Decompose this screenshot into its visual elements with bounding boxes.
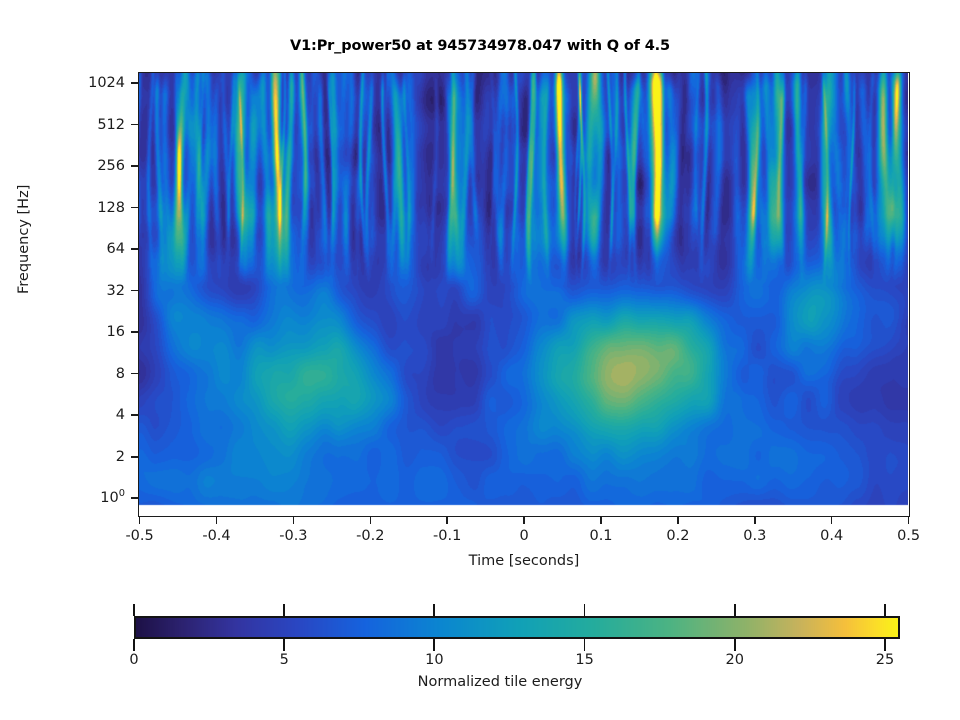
y-tick-mark [131,165,138,167]
spectrogram-image [139,73,908,511]
y-tick-label: 16 [0,324,125,340]
x-tick-mark [139,517,141,524]
colorbar-tick-mark [133,604,135,616]
y-tick-label: 100 [0,490,125,506]
y-tick-label: 4 [0,407,125,423]
page-title: V1:Pr_power50 at 945734978.047 with Q of… [0,38,960,54]
y-tick-mark [131,497,138,499]
colorbar-tick-mark [133,639,135,651]
y-axis-label: Frequency [Hz] [16,185,32,294]
x-tick-label: -0.5 [125,528,153,544]
x-tick-label: -0.4 [202,528,230,544]
x-tick-mark [216,517,218,524]
y-tick-label: 1024 [0,75,125,91]
colorbar-tick-mark [884,639,886,651]
x-axis-label: Time [seconds] [0,553,960,569]
colorbar-tick-label: 10 [425,652,443,668]
x-tick-mark [677,517,679,524]
spectrogram-figure: V1:Pr_power50 at 945734978.047 with Q of… [0,0,960,720]
y-tick-label: 2 [0,449,125,465]
colorbar-label: Normalized tile energy [0,674,960,690]
colorbar-tick-mark [734,639,736,651]
x-tick-mark [523,517,525,524]
y-tick-label: 512 [0,117,125,133]
colorbar-tick-mark [283,639,285,651]
colorbar-tick-mark [734,604,736,616]
spectrogram-axes[interactable] [138,72,910,517]
x-tick-mark [446,517,448,524]
x-tick-label: 0 [519,528,528,544]
y-tick-mark [131,331,138,333]
y-tick-mark [131,207,138,209]
y-tick-mark [131,290,138,292]
y-tick-mark [131,456,138,458]
colorbar-tick-label: 0 [129,652,138,668]
x-tick-mark [754,517,756,524]
colorbar-tick-label: 20 [726,652,744,668]
y-tick-mark [131,82,138,84]
colorbar-tick-mark [433,639,435,651]
colorbar-gradient [136,618,898,637]
y-tick-mark [131,248,138,250]
colorbar-tick-label: 5 [280,652,289,668]
colorbar-tick-mark [584,639,586,651]
y-tick-label: 8 [0,366,125,382]
y-tick-mark [131,373,138,375]
colorbar[interactable] [134,616,900,639]
x-tick-label: 0.4 [820,528,843,544]
x-tick-label: 0.2 [666,528,689,544]
colorbar-tick-mark [283,604,285,616]
colorbar-tick-label: 25 [876,652,894,668]
colorbar-tick-mark [884,604,886,616]
colorbar-tick-mark [433,604,435,616]
y-tick-mark [131,124,138,126]
y-tick-mark [131,414,138,416]
x-tick-label: -0.2 [356,528,384,544]
x-tick-label: 0.5 [897,528,920,544]
x-tick-mark [908,517,910,524]
x-tick-label: -0.3 [279,528,307,544]
y-tick-label: 256 [0,158,125,174]
x-tick-label: -0.1 [433,528,461,544]
colorbar-tick-label: 15 [575,652,593,668]
x-tick-mark [600,517,602,524]
colorbar-tick-mark [584,604,586,616]
x-tick-label: 0.3 [743,528,766,544]
x-tick-mark [370,517,372,524]
x-tick-label: 0.1 [589,528,612,544]
x-tick-mark [293,517,295,524]
x-tick-mark [831,517,833,524]
